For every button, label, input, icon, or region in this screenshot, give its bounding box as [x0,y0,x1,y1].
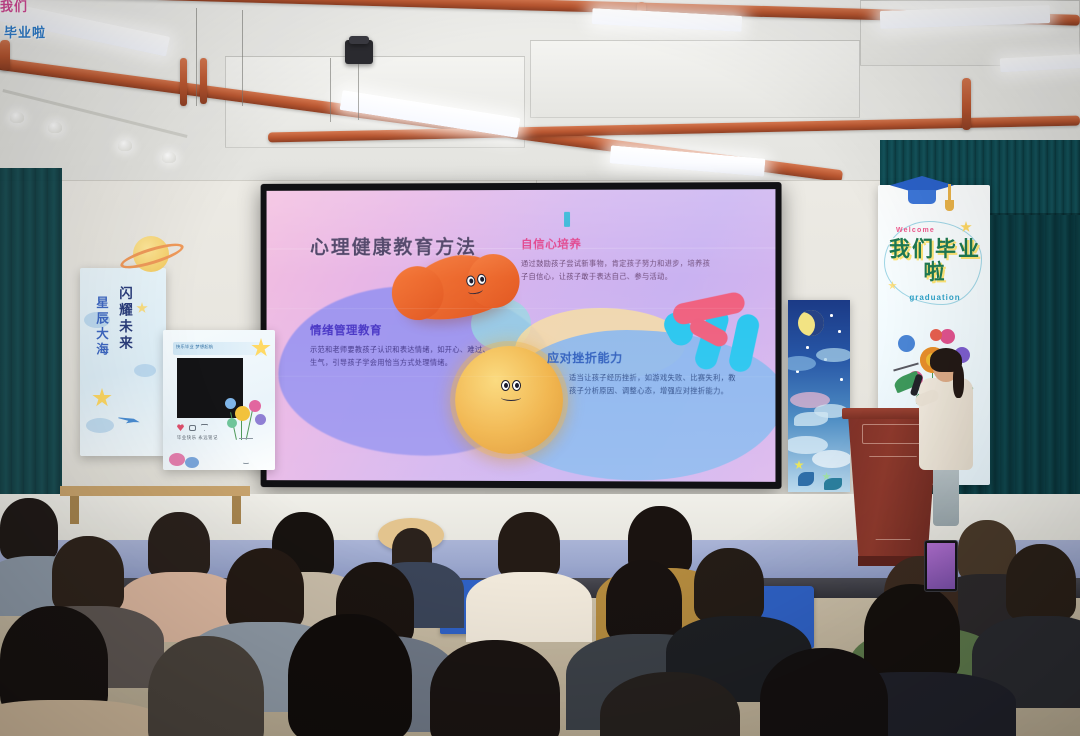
star-icon [136,302,148,314]
slide-block-setback: 应对挫折能力 适当让孩子经历挫折，如游戏失败、比赛失利，教孩子分析原因、调整心态… [547,349,738,398]
stage-curtain-left [0,168,62,518]
character-smile-icon [501,394,521,401]
speaker-presenter [915,352,975,532]
pipe-riser [962,78,971,130]
slide-block-emotion: 情绪管理教育 示范和老师要教孩子认识和表达情绪，如开心、难过、生气，引导孩子学会… [310,322,491,370]
decor-board-stars: 星辰大海 闪耀未来 [80,268,166,456]
hanging-wire [330,58,331,122]
audience-head [226,548,304,630]
audience-head [864,584,960,682]
hanging-wire [196,8,197,106]
decor-board-photo-frame: 快乐毕业 梦想起航 毕业快乐 永远铭记 [163,330,275,470]
table-leg [70,496,79,524]
light-track [2,89,187,138]
pipe-drop [200,58,207,104]
speaker-hair [953,364,964,398]
star-icon [92,388,112,408]
pipe-riser [0,40,10,70]
spotlight [162,152,176,163]
comment-icon [189,425,196,431]
projection-screen[interactable]: 心理健康教育方法 自信心培养 通过鼓励孩子尝试新事物，肯定孩子努力和进步，培养孩… [261,182,782,489]
hanging-wire [358,64,359,120]
stage-table [60,486,250,496]
spotlight [118,140,132,151]
star-board-line-left: 闪耀未来 [114,286,134,352]
block-body: 适当让孩子经历挫折，如游戏失败、比赛失利，教孩子分析原因、调整心态，增强应对挫折… [547,371,738,398]
block-heading: 应对挫折能力 [547,349,738,366]
grad-text-line2: 毕业啦 [4,26,46,40]
smartphone[interactable] [924,540,958,592]
audience-head [0,498,58,560]
block-heading: 情绪管理教育 [310,322,491,338]
graduation-english-text: graduation [889,293,981,302]
heart-icon [177,424,184,431]
graduation-cap-icon [890,176,954,206]
audience-head [694,548,764,622]
welcome-text: Welcome [896,227,935,234]
audience-head [430,640,560,736]
frame-caption: 毕业快乐 永远铭记 [177,435,218,441]
accent-bar-icon [564,212,570,227]
character-eyes-icon [466,273,487,287]
frame-banner: 快乐毕业 梦想起航 [173,342,263,355]
paper-plane-icon [117,413,140,426]
slide-title: 心理健康教育方法 [310,232,477,259]
audience-shoulders [466,572,592,642]
frame-banner-text: 快乐毕业 梦想起航 [176,344,213,350]
audience-head [498,512,560,578]
speaker-legs [933,464,959,526]
slide-block-confidence: 自信心培养 通过鼓励孩子尝试新事物，肯定孩子努力和进步，培养孩子自信心，让孩子敢… [521,236,717,284]
star-board-line-right: 星辰大海 [92,296,111,358]
spotlight [48,122,62,133]
audience-head [288,614,412,736]
projector-lens [349,36,369,44]
character-smile-icon [467,286,483,295]
send-icon [201,424,208,431]
starry-night-ocean-mural [788,300,850,492]
ceiling-panel [530,40,860,118]
spotlight [10,112,24,123]
block-body: 示范和老师要教孩子认识和表达情绪，如开心、难过、生气，引导孩子学会用恰当方式处理… [310,343,491,370]
audience-head [606,560,682,642]
auditorium-scene: 心理健康教育方法 自信心培养 通过鼓励孩子尝试新事物，肯定孩子努力和进步，培养孩… [0,0,1080,736]
crescent-moon-icon [798,310,824,336]
flower-bouquet-icon [221,396,273,464]
block-body: 通过鼓励孩子尝试新事物，肯定孩子努力和进步，培养孩子自信心，让孩子敢于表达自己、… [521,257,717,284]
audience-head [148,512,210,578]
audience-head [52,536,124,612]
social-icon-row [177,424,208,431]
saturn-icon [107,252,147,288]
graduation-chinese-text: 我们毕业啦 [889,239,981,284]
audience-head [148,636,264,736]
grad-text-line1: 我们 [0,0,28,14]
table-leg [232,496,241,524]
hanging-wire [242,10,243,106]
character-eyes-icon [501,380,521,391]
block-heading: 自信心培养 [521,236,717,252]
audience-head [1006,544,1076,620]
presentation-slide: 心理健康教育方法 自信心培养 通过鼓励孩子尝试新事物，肯定孩子努力和进步，培养孩… [267,189,776,482]
phone-screen [927,543,955,589]
pipe-drop [180,58,187,106]
whale-icon [794,412,828,426]
